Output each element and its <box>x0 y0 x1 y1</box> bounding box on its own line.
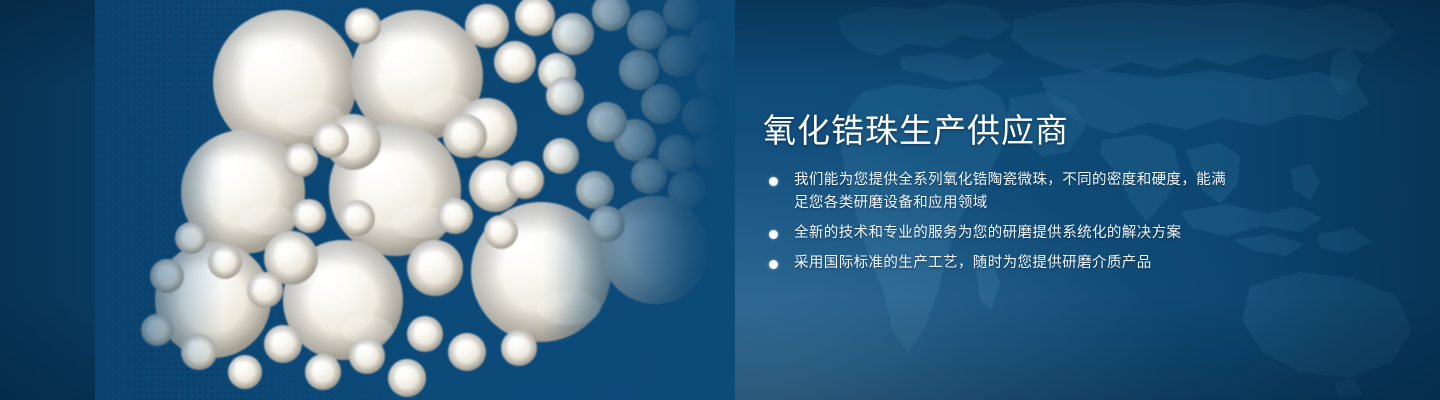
bullet-dot-icon <box>769 177 778 186</box>
list-item: 全新的技术和专业的服务为您的研磨提供系统化的解决方案 <box>766 222 1236 245</box>
hero-banner: 氧化锆珠生产供应商 我们能为您提供全系列氧化锆陶瓷微珠，不同的密度和硬度，能满足… <box>0 0 1440 400</box>
beads-illustration <box>95 0 735 400</box>
list-item: 我们能为您提供全系列氧化锆陶瓷微珠，不同的密度和硬度，能满足您各类研磨设备和应用… <box>766 169 1236 215</box>
page-title: 氧化锆珠生产供应商 <box>763 111 1069 151</box>
list-item-label: 采用国际标准的生产工艺，随时为您提供研磨介质产品 <box>794 255 1152 271</box>
list-item-label: 我们能为您提供全系列氧化锆陶瓷微珠，不同的密度和硬度，能满足您各类研磨设备和应用… <box>794 172 1226 211</box>
banner-content: 氧化锆珠生产供应商 我们能为您提供全系列氧化锆陶瓷微珠，不同的密度和硬度，能满足… <box>763 0 1323 400</box>
list-item: 采用国际标准的生产工艺，随时为您提供研磨介质产品 <box>766 252 1236 275</box>
feature-list: 我们能为您提供全系列氧化锆陶瓷微珠，不同的密度和硬度，能满足您各类研磨设备和应用… <box>766 169 1236 275</box>
bullet-dot-icon <box>769 260 778 269</box>
bullet-dot-icon <box>769 230 778 239</box>
zirconia-beads-image <box>95 0 735 400</box>
list-item-label: 全新的技术和专业的服务为您的研磨提供系统化的解决方案 <box>794 225 1181 241</box>
